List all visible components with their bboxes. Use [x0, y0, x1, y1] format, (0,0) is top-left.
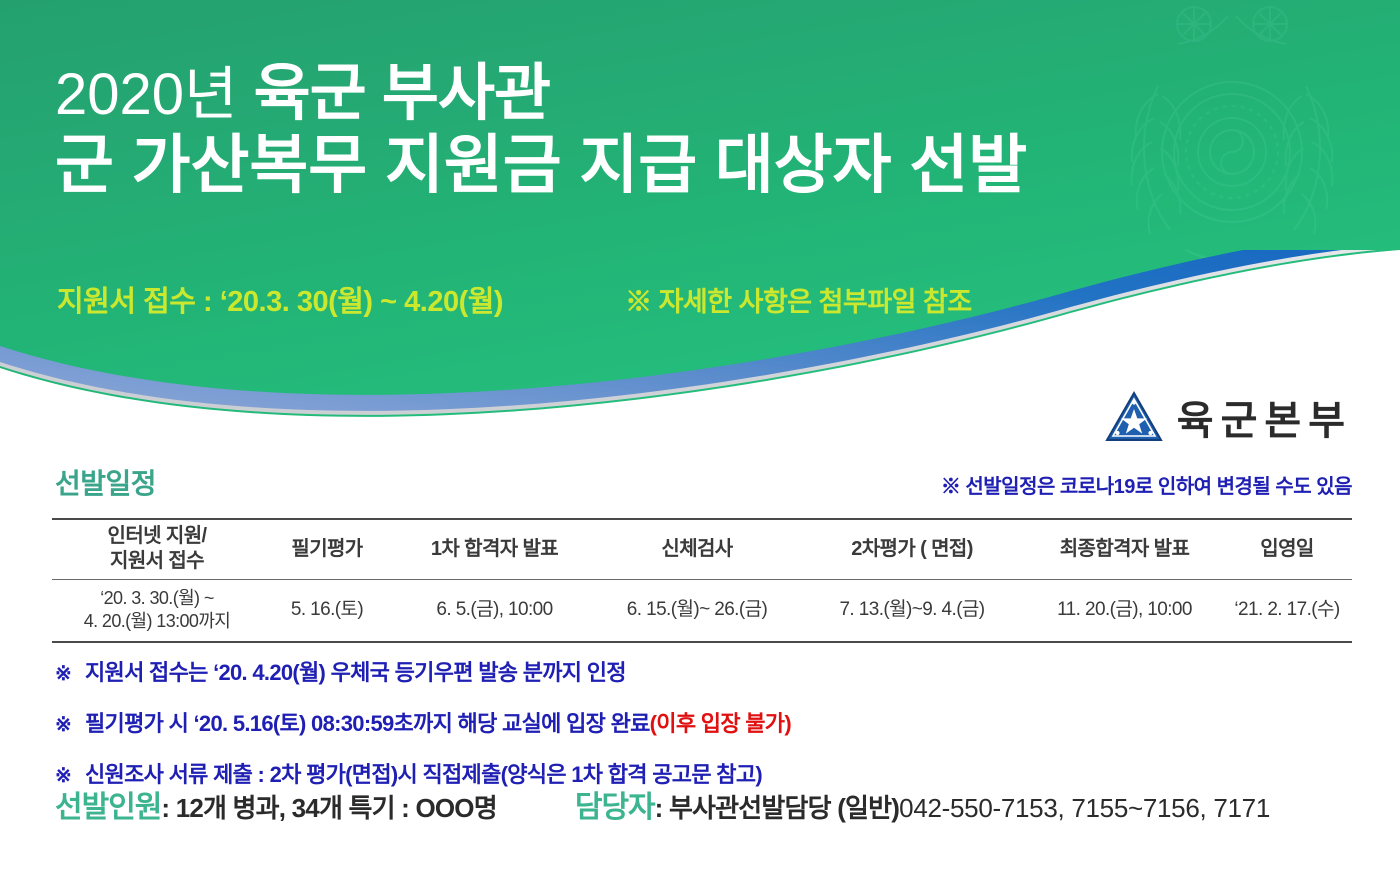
selection-count-label: 선발인원: [55, 782, 161, 826]
column-header-second-eval-interview: 2차평가 ( 면접): [797, 519, 1027, 579]
cell-internet-application: ‘20. 3. 30.(월) ~ 4. 20.(월) 13:00까지: [52, 579, 262, 642]
cell-written-exam: 5. 16.(토): [262, 579, 392, 642]
column-header-final-pass-announcement: 최종합격자 발표: [1027, 519, 1222, 579]
asterisk-icon: ※: [55, 661, 85, 686]
column-header-enlistment-date: 입영일: [1222, 519, 1352, 579]
table-row: ‘20. 3. 30.(월) ~ 4. 20.(월) 13:00까지 5. 16…: [52, 579, 1352, 642]
table-header-row: 인터넷 지원/ 지원서 접수 필기평가 1차 합격자 발표 신체검사 2차평가 …: [52, 519, 1352, 579]
cell-enlistment-date: ‘21. 2. 17.(수): [1222, 579, 1352, 642]
cell-final-pass-announcement: 11. 20.(금), 10:00: [1027, 579, 1222, 642]
army-hq-label: 육군본부: [1177, 388, 1352, 446]
cell-physical-exam: 6. 15.(월)~ 26.(금): [597, 579, 797, 642]
schedule-covid-note: ※ 선발일정은 코로나19로 인하여 변경될 수도 있음: [941, 470, 1352, 499]
header-banner: 2020년 육군 부사관 군 가산복무 지원금 지급 대상자 선발 지원서 접수…: [0, 0, 1400, 440]
asterisk-icon: ※: [55, 712, 85, 737]
note-item: ※ 지원서 접수는 ‘20. 4.20(월) 우체국 등기우편 발송 분까지 인…: [55, 655, 1355, 687]
note-text: 필기평가 시 ‘20. 5.16(토) 08:30:59초까지 해당 교실에 입…: [85, 706, 650, 738]
poster-title: 2020년 육군 부사관 군 가산복무 지원금 지급 대상자 선발: [55, 62, 1285, 202]
column-header-internet-application: 인터넷 지원/ 지원서 접수: [52, 519, 262, 579]
column-header-physical-exam: 신체검사: [597, 519, 797, 579]
note-item: ※ 필기평가 시 ‘20. 5.16(토) 08:30:59초까지 해당 교실에…: [55, 706, 1355, 738]
column-header-written-exam: 필기평가: [262, 519, 392, 579]
note-text-alert: (이후 입장 불가): [650, 706, 791, 738]
note-text: 지원서 접수는 ‘20. 4.20(월) 우체국 등기우편 발송 분까지 인정: [85, 655, 626, 687]
title-main: 육군 부사관: [254, 59, 550, 128]
poster-root: 2020년 육군 부사관 군 가산복무 지원금 지급 대상자 선발 지원서 접수…: [0, 0, 1400, 887]
contact-label: 담당자: [575, 782, 655, 826]
selection-count-text: : 12개 병과, 34개 특기 : OOO명: [161, 788, 496, 825]
cell-first-pass-announcement: 6. 5.(금), 10:00: [392, 579, 597, 642]
title-line-1: 2020년 육군 부사관: [55, 62, 1285, 126]
title-year: 2020년: [55, 62, 237, 127]
schedule-table: 인터넷 지원/ 지원서 접수 필기평가 1차 합격자 발표 신체검사 2차평가 …: [52, 518, 1352, 643]
army-hq-logo: 육군본부: [1105, 388, 1352, 446]
army-triangle-star-icon: [1105, 390, 1163, 444]
column-header-first-pass-announcement: 1차 합격자 발표: [392, 519, 597, 579]
cell-second-eval-interview: 7. 13.(월)~9. 4.(금): [797, 579, 1027, 642]
contact-phone-numbers: 042-550-7153, 7155~7156, 7171: [899, 793, 1270, 824]
title-line-2: 군 가산복무 지원금 지급 대상자 선발: [55, 130, 1285, 202]
schedule-heading: 선발일정: [55, 462, 156, 502]
contact-text: : 부사관선발담당 (일반): [655, 788, 900, 825]
footer-row: 선발인원 : 12개 병과, 34개 특기 : OOO명 담당자 : 부사관선발…: [55, 782, 1355, 826]
